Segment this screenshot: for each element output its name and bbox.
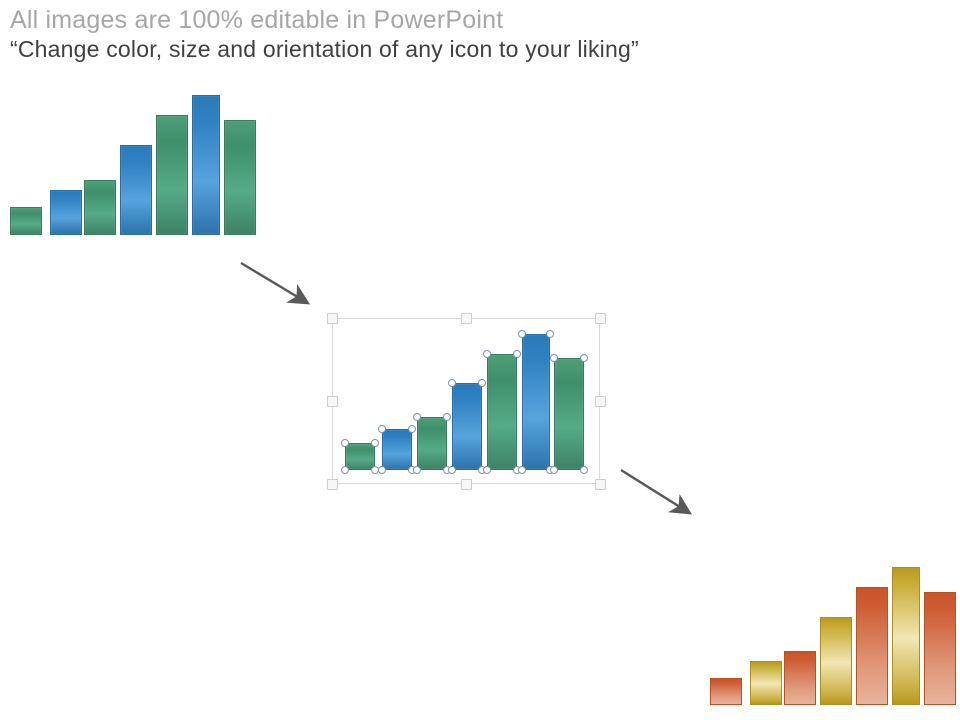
bar-5[interactable] [156,115,188,235]
bar-chart-recolored[interactable] [708,560,953,705]
bar-7[interactable] [224,120,256,235]
bar-7-handle-tr[interactable] [580,354,588,362]
bar-5-handle-bl[interactable] [483,466,491,474]
bar-7-handle-br[interactable] [580,466,588,474]
bar-2[interactable] [750,661,782,705]
bar-2-handle-tl[interactable] [378,425,386,433]
handle-middle-right[interactable] [595,396,606,407]
bar-1-handle-tr[interactable] [371,439,379,447]
handle-bottom-right[interactable] [595,479,606,490]
bar-1[interactable] [710,678,742,705]
arrow-selected-to-recolored [618,467,706,525]
bar-6[interactable] [192,95,220,235]
bar-7-handle-bl[interactable] [550,466,558,474]
bar-1-handle-bl[interactable] [341,466,349,474]
bar-7[interactable] [924,592,956,705]
bar-3-handle-tl[interactable] [413,413,421,421]
bar-6[interactable] [892,567,920,705]
bar-5-handle-tl[interactable] [483,350,491,358]
handle-top-center[interactable] [461,313,472,324]
bar-4-handle-bl[interactable] [448,466,456,474]
bar-7-handle-tl[interactable] [550,354,558,362]
bar-1[interactable] [10,207,42,235]
handle-bottom-center[interactable] [461,479,472,490]
handle-bottom-left[interactable] [327,479,338,490]
page-subtitle: “Change color, size and orientation of a… [10,36,639,63]
bar-5-handle-tr[interactable] [513,350,521,358]
handle-middle-left[interactable] [327,396,338,407]
bar-4[interactable] [820,617,852,705]
handle-top-left[interactable] [327,313,338,324]
bar-4[interactable] [120,145,152,235]
bar-3[interactable] [784,651,816,705]
handle-top-right[interactable] [595,313,606,324]
arrow-original-to-selected [238,260,323,315]
bar-3-handle-tr[interactable] [443,413,451,421]
bar-2-handle-bl[interactable] [378,466,386,474]
bar-6-handle-tr[interactable] [546,330,554,338]
bar-2-handle-tr[interactable] [408,425,416,433]
bar-6-handle-tl[interactable] [518,330,526,338]
bar-2[interactable] [50,190,82,235]
bar-5[interactable] [856,587,888,705]
bar-3[interactable] [84,180,116,235]
page-title: All images are 100% editable in PowerPoi… [10,6,503,35]
bar-4-handle-tl[interactable] [448,379,456,387]
bar-1-handle-tl[interactable] [341,439,349,447]
bar-chart-original[interactable] [8,90,253,235]
bar-4-handle-tr[interactable] [478,379,486,387]
selection-bounding-box[interactable] [332,318,600,484]
bar-6-handle-bl[interactable] [518,466,526,474]
bar-3-handle-bl[interactable] [413,466,421,474]
